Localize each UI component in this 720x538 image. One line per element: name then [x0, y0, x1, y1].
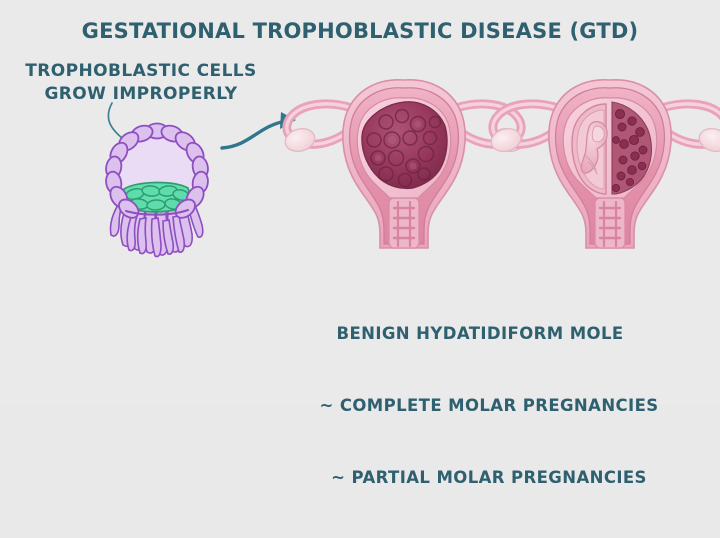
- illustration-layer: [0, 0, 720, 404]
- slide-canvas: GESTATIONAL TROPHOBLASTIC DISEASE (GTD) …: [0, 0, 720, 404]
- uterus-partial-mole: [489, 80, 720, 248]
- blastocyst-diagram: [104, 123, 209, 257]
- leader-line: [108, 103, 122, 138]
- benign-mole-item-partial: ~ PARTIAL MOLAR PREGNANCIES: [300, 466, 660, 490]
- uterus-complete-mole: [283, 80, 526, 248]
